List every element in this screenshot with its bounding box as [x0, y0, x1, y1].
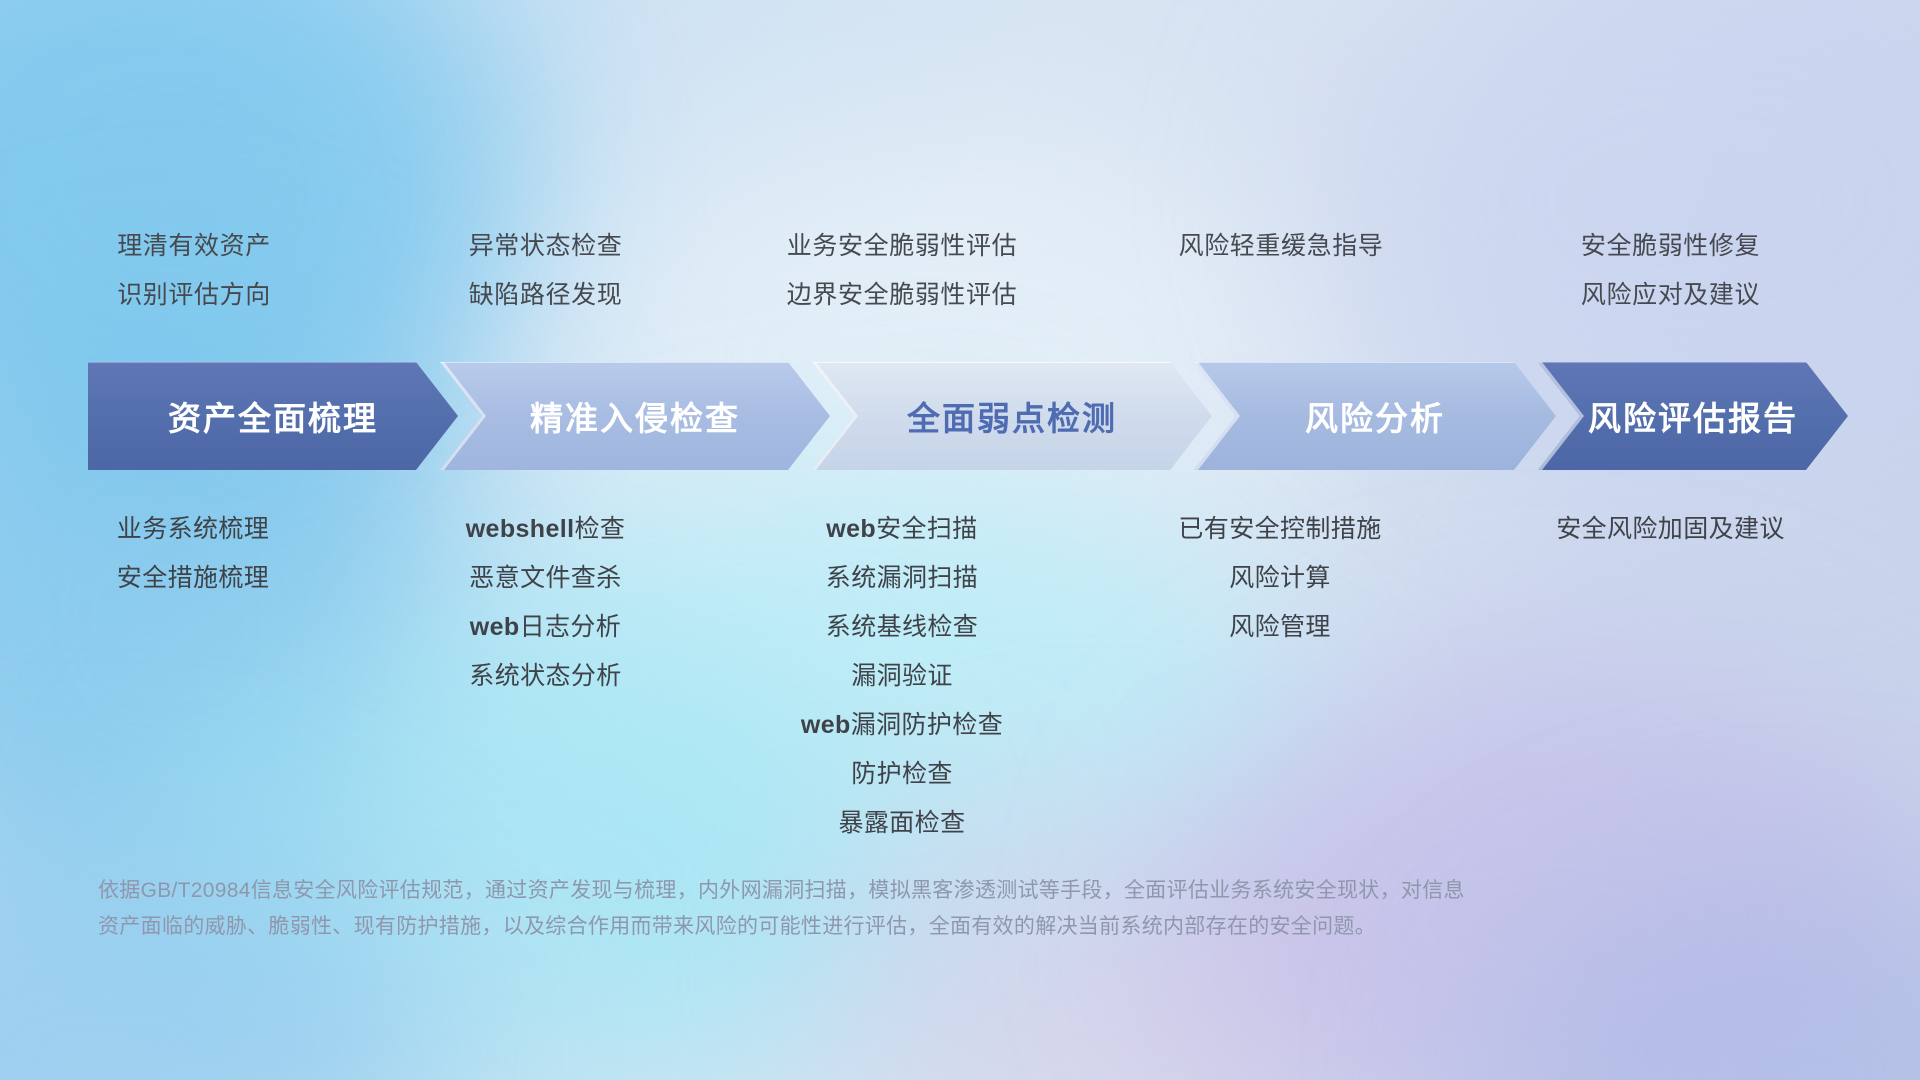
stage-1-activity-item: 安全措施梳理	[117, 554, 269, 603]
stage-3-output-item: 业务安全脆弱性评估	[787, 222, 1017, 271]
stage-1-chevron[interactable]: 资产全面梳理	[88, 362, 458, 470]
stage-2-activity-item: 恶意文件查杀	[469, 554, 621, 603]
stage-1-output-item: 识别评估方向	[117, 271, 271, 320]
stage-3-outputs: 业务安全脆弱性评估 边界安全脆弱性评估	[715, 222, 1085, 332]
stage-1-output-item: 理清有效资产	[117, 222, 271, 271]
stage-3-activity-item: 系统漏洞扫描	[826, 554, 978, 603]
stage-5-label: 风险评估报告	[1588, 392, 1798, 440]
process-diagram: 理清有效资产 识别评估方向 异常状态检查 缺陷路径发现 业务安全脆弱性评估 边界…	[0, 0, 1920, 1080]
stage-1-activities: 业务系统梳理 安全措施梳理	[0, 505, 370, 825]
stage-5-activities: 安全风险加固及建议	[1455, 505, 1920, 825]
stage-5-outputs: 安全脆弱性修复 风险应对及建议	[1455, 222, 1920, 332]
stage-5-chevron[interactable]: 风险评估报告	[1538, 362, 1848, 470]
stage-3-activity-item: 系统基线检查	[826, 603, 978, 652]
stage-outputs-row: 理清有效资产 识别评估方向 异常状态检查 缺陷路径发现 业务安全脆弱性评估 边界…	[0, 222, 1920, 332]
stage-5-activity-item: 安全风险加固及建议	[1556, 505, 1785, 554]
stage-4-chevron[interactable]: 风险分析	[1194, 362, 1556, 470]
footer-line-2: 资产面临的威胁、脆弱性、现有防护措施，以及综合作用而带来风险的可能性进行评估，全…	[98, 909, 1798, 945]
stage-4-activities: 已有安全控制措施 风险计算 风险管理	[1085, 505, 1455, 825]
stage-3-chevron[interactable]: 全面弱点检测	[812, 362, 1212, 470]
process-chevron-band: 资产全面梳理 精准入侵检查 全面弱点检测 风险分析 风险评估报告	[88, 362, 1848, 470]
stage-2-outputs: 异常状态检查 缺陷路径发现	[370, 222, 715, 332]
stage-2-activities: webshell检查 恶意文件查杀 web日志分析 系统状态分析	[370, 505, 715, 825]
stage-3-label: 全面弱点检测	[907, 392, 1117, 440]
stage-4-output-item: 风险轻重缓急指导	[1179, 222, 1384, 271]
stage-4-label: 风险分析	[1305, 392, 1445, 440]
stage-2-activity-item: 系统状态分析	[469, 652, 621, 701]
stage-2-chevron[interactable]: 精准入侵检查	[440, 362, 830, 470]
stage-4-activity-item: 风险计算	[1229, 554, 1331, 603]
stage-3-activity-item: web漏洞防护检查	[801, 701, 1003, 750]
footer-line-1: 依据GB/T20984信息安全风险评估规范，通过资产发现与梳理，内外网漏洞扫描，…	[98, 873, 1798, 909]
stage-4-activity-item: 风险管理	[1229, 603, 1331, 652]
stage-5-output-item: 安全脆弱性修复	[1581, 222, 1760, 271]
stage-activities-row: 业务系统梳理 安全措施梳理 webshell检查 恶意文件查杀 web日志分析 …	[0, 505, 1920, 825]
stage-3-activity-item: 防护检查	[851, 750, 953, 799]
stage-2-label: 精准入侵检查	[530, 392, 740, 440]
stage-3-activities: web安全扫描 系统漏洞扫描 系统基线检查 漏洞验证 web漏洞防护检查 防护检…	[715, 505, 1085, 825]
stage-1-label: 资产全面梳理	[168, 392, 378, 440]
stage-3-activity-item: web安全扫描	[826, 505, 977, 554]
stage-1-activity-item: 业务系统梳理	[117, 505, 269, 554]
stage-1-outputs: 理清有效资产 识别评估方向	[0, 222, 370, 332]
stage-2-activity-item: webshell检查	[466, 505, 626, 554]
stage-3-output-item: 边界安全脆弱性评估	[787, 271, 1017, 320]
stage-4-activity-item: 已有安全控制措施	[1178, 505, 1381, 554]
stage-2-activity-item: web日志分析	[470, 603, 621, 652]
stage-5-output-item: 风险应对及建议	[1581, 271, 1760, 320]
stage-3-activity-item: 暴露面检查	[838, 799, 965, 848]
stage-3-activity-item: 漏洞验证	[851, 652, 953, 701]
footer-description: 依据GB/T20984信息安全风险评估规范，通过资产发现与梳理，内外网漏洞扫描，…	[98, 873, 1798, 945]
stage-2-output-item: 异常状态检查	[469, 222, 623, 271]
stage-2-output-item: 缺陷路径发现	[469, 271, 623, 320]
stage-4-outputs: 风险轻重缓急指导	[1085, 222, 1455, 332]
